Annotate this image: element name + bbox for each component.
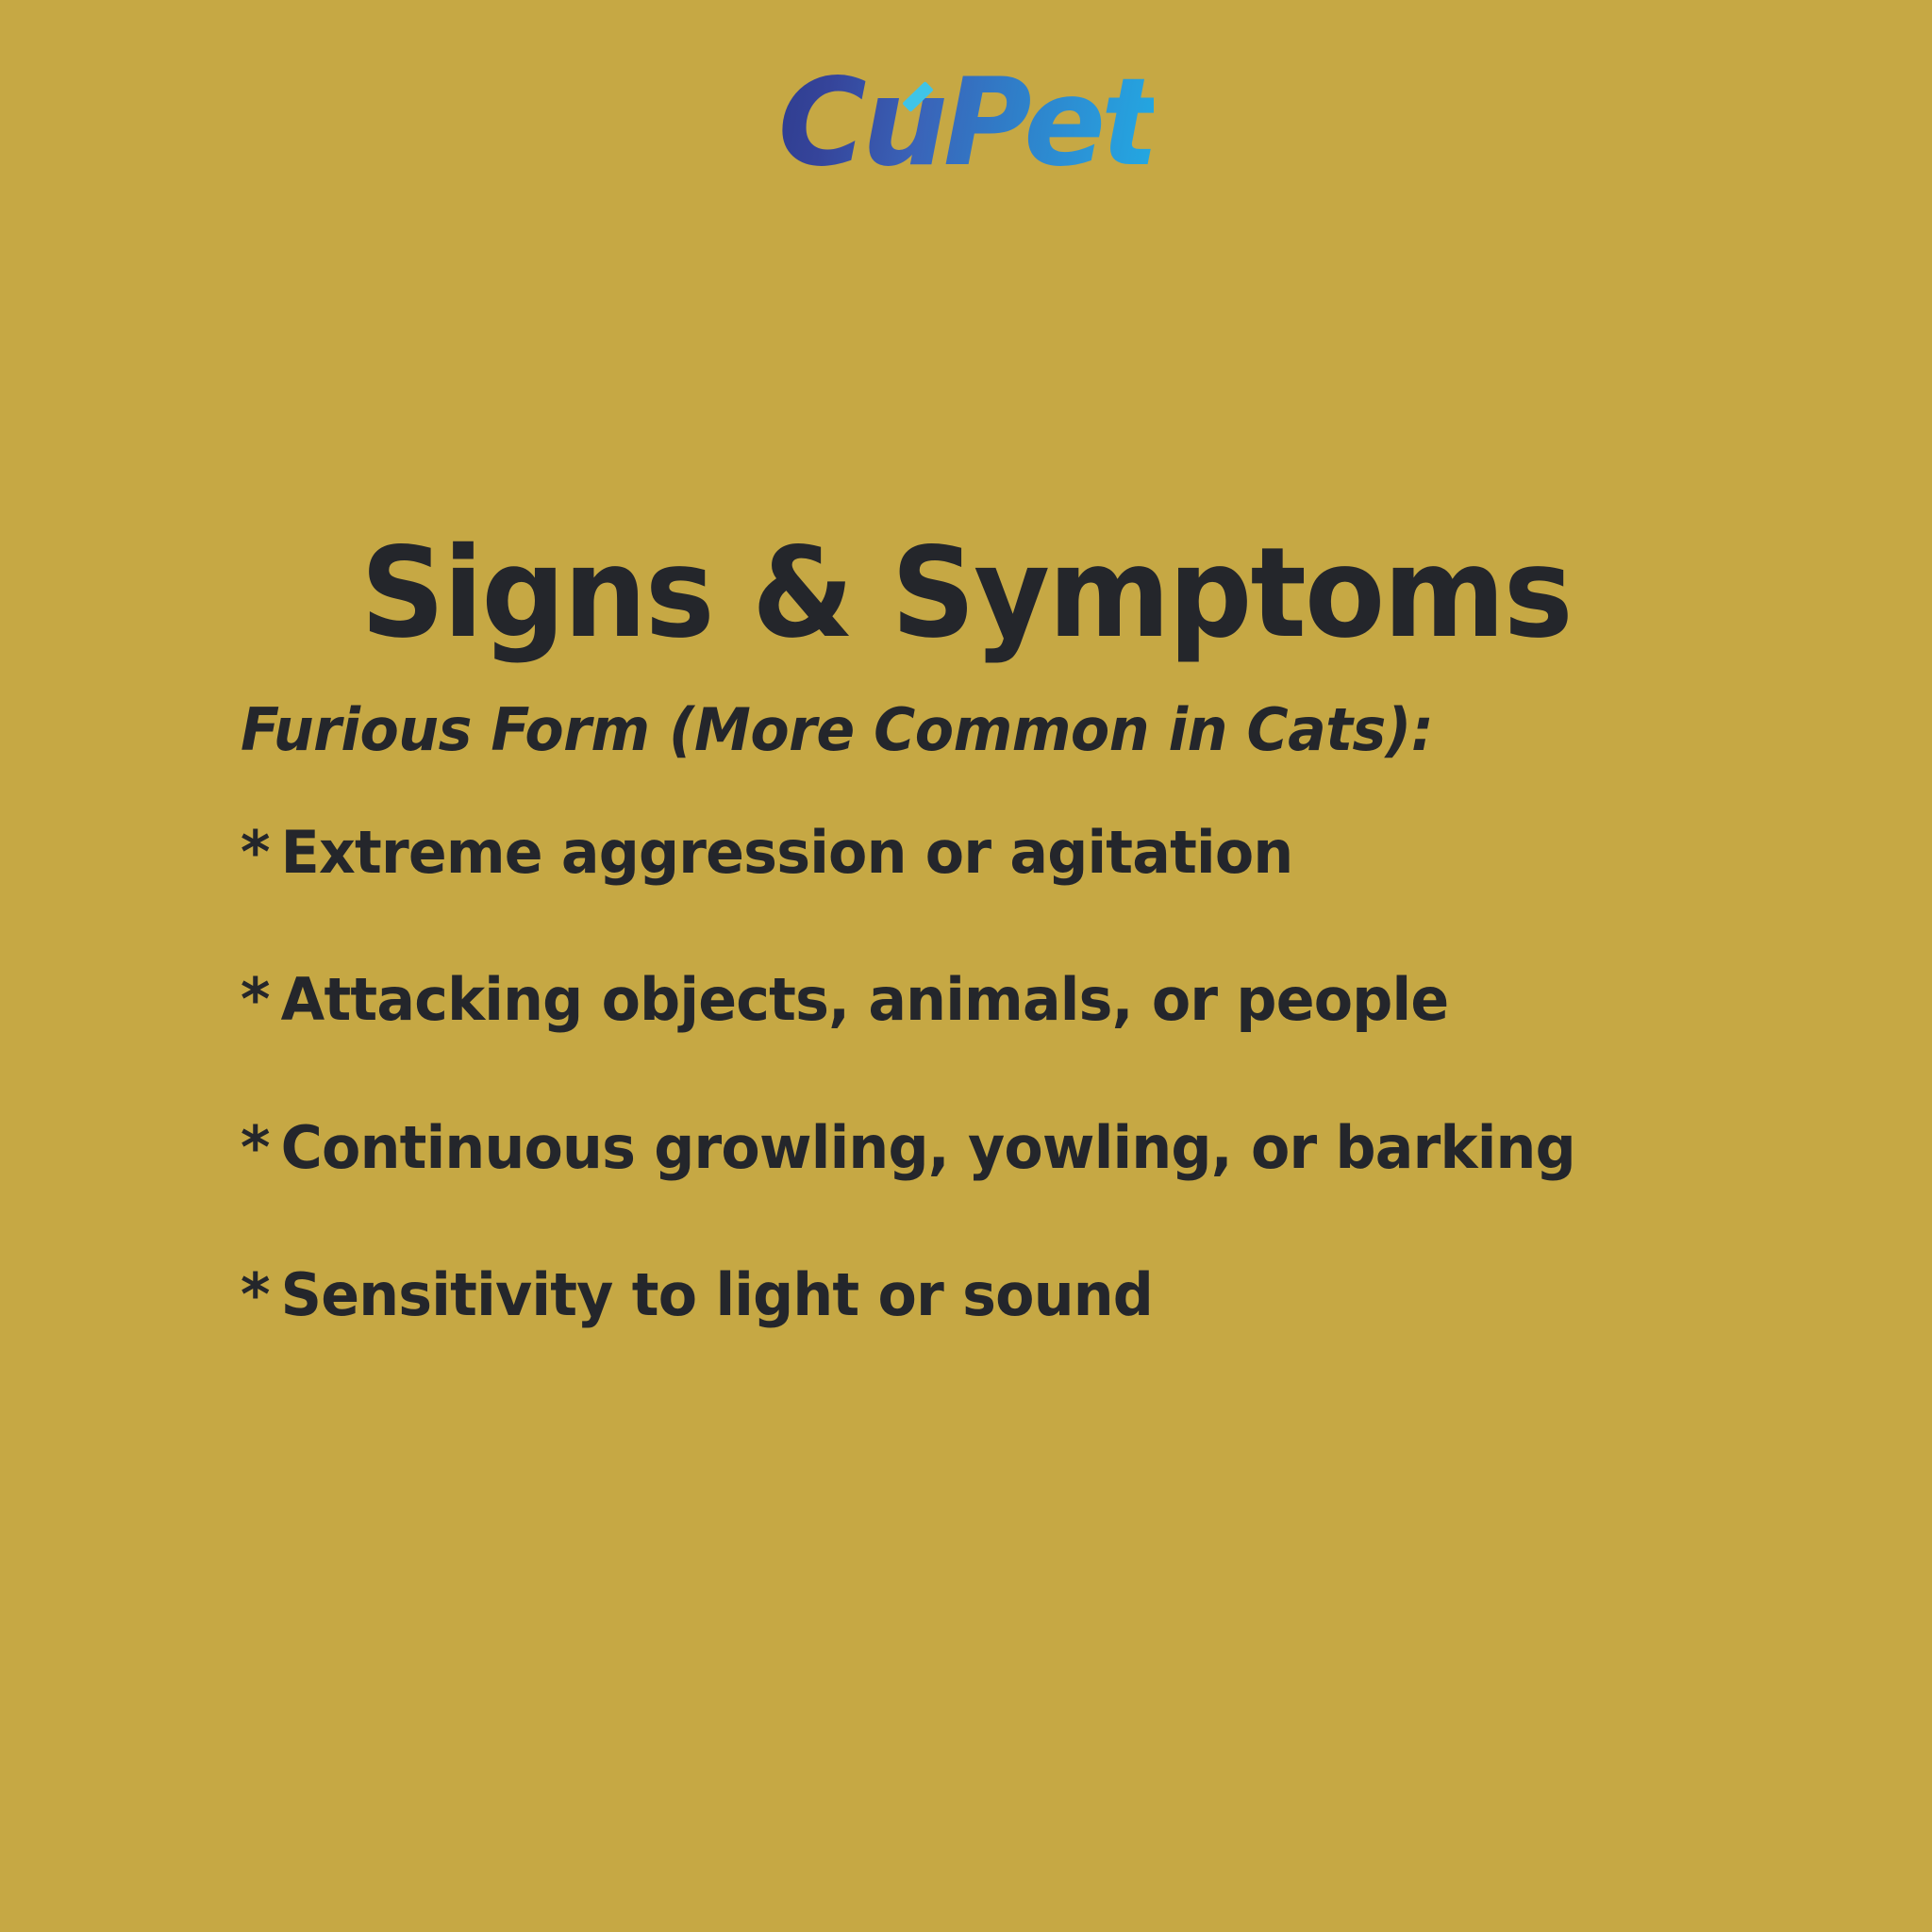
list-item: *Sensitivity to light or sound (241, 1263, 1772, 1327)
poster-canvas: CuPet Signs & Symptoms Furious Form (Mor… (0, 0, 1932, 1932)
list-item-label: Sensitivity to light or sound (281, 1260, 1153, 1329)
bullet-marker-icon: * (241, 968, 281, 1032)
list-item-label: Continuous growling, yowling, or barking (281, 1113, 1575, 1182)
brand-wordmark-text: CuPet (778, 53, 1154, 193)
list-item-label: Attacking objects, animals, or people (281, 965, 1449, 1034)
list-item-label: Extreme aggression or agitation (281, 818, 1293, 887)
brand-header: CuPet (0, 58, 1932, 189)
bullet-marker-icon: * (241, 1116, 281, 1180)
cupet-logo: CuPet (778, 58, 1154, 189)
section-subheading: Furious Form (More Common in Cats): (241, 698, 1772, 762)
list-item: *Extreme aggression or agitation (241, 821, 1772, 885)
symptom-list: *Extreme aggression or agitation *Attack… (241, 821, 1819, 1327)
page-title: Signs & Symptoms (58, 525, 1874, 664)
content-block: Furious Form (More Common in Cats): *Ext… (241, 698, 1819, 1327)
list-item: *Attacking objects, animals, or people (241, 968, 1772, 1032)
list-item: *Continuous growling, yowling, or barkin… (241, 1116, 1772, 1180)
bullet-marker-icon: * (241, 1263, 281, 1327)
bullet-marker-icon: * (241, 821, 281, 885)
